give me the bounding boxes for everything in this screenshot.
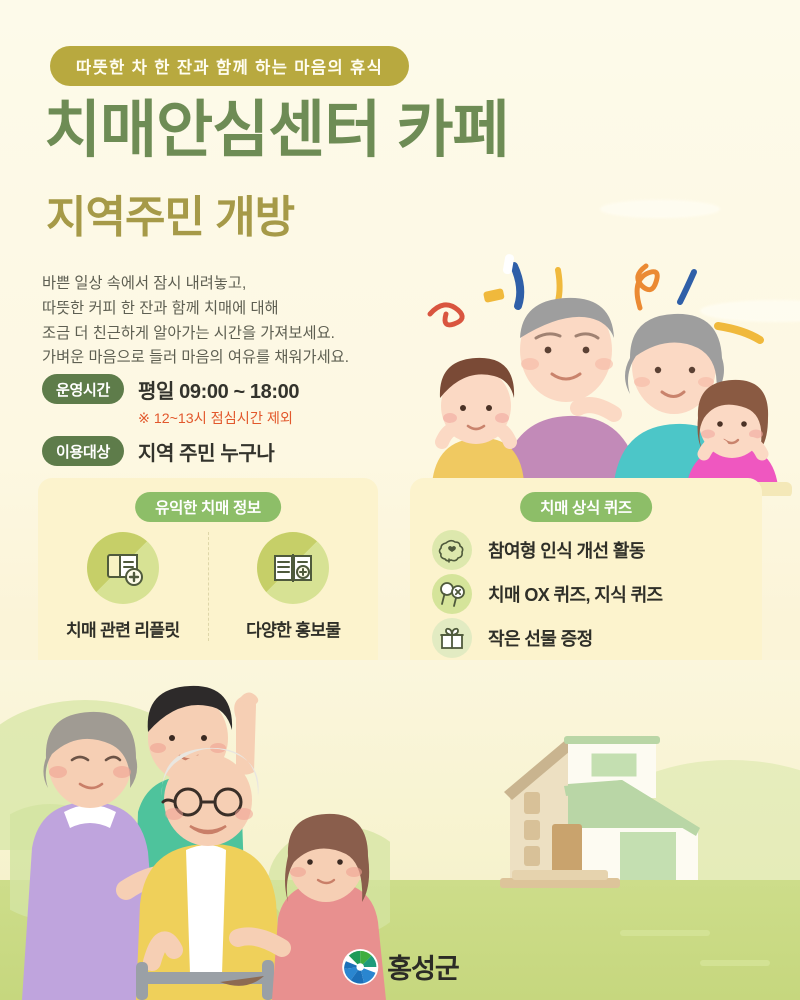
intro-line-2: 따뜻한 커피 한 잔과 함께 치매에 대해 bbox=[42, 297, 349, 322]
intro-line-4: 가벼운 마음으로 들러 마음의 여유를 채워가세요. bbox=[42, 346, 349, 371]
brain-heart-icon bbox=[432, 530, 472, 570]
info-item-leaflet: 치매 관련 리플릿 bbox=[38, 532, 208, 641]
footer-organization-name: 홍성군 bbox=[387, 947, 459, 986]
info-value-audience: 지역 주민 누구나 bbox=[138, 437, 274, 466]
quiz-label-gift: 작은 선물 증정 bbox=[488, 625, 593, 651]
info-row-hours: 운영시간 평일 09:00 ~ 18:00 ※ 12~13시 점심시간 제외 bbox=[42, 374, 402, 428]
ground-tuft bbox=[700, 960, 770, 966]
card-dementia-info: 유익한 치매 정보 치매 관련 리플릿 bbox=[38, 478, 378, 673]
hongseong-emblem-icon bbox=[341, 948, 379, 986]
family-grandparents-children-illustration bbox=[418, 246, 800, 496]
boy-figure bbox=[430, 358, 526, 496]
info-row-audience: 이용대상 지역 주민 누구나 bbox=[42, 436, 402, 466]
intro-line-1: 바쁜 일상 속에서 잠시 내려놓고, bbox=[42, 272, 349, 297]
house-illustration bbox=[460, 720, 760, 900]
open-book-plus-icon bbox=[257, 532, 329, 604]
info-item-promo-materials: 다양한 홍보물 bbox=[208, 532, 379, 641]
info-value-hours: 평일 09:00 ~ 18:00 bbox=[138, 375, 299, 404]
poster-canvas: 따뜻한 차 한 잔과 함께 하는 마음의 휴식 치매안심센터 카페 지역주민 개… bbox=[0, 0, 800, 1000]
header-badge: 따뜻한 차 한 잔과 함께 하는 마음의 휴식 bbox=[50, 46, 409, 86]
info-item-label-promo-materials: 다양한 홍보물 bbox=[246, 616, 340, 641]
quiz-label-awareness: 참여형 인식 개선 활동 bbox=[488, 537, 645, 563]
page-title: 치매안심센터 카페 bbox=[44, 100, 509, 162]
cloud-decoration bbox=[600, 200, 720, 218]
info-label-audience: 이용대상 bbox=[42, 436, 124, 466]
gift-icon bbox=[432, 618, 472, 658]
family-wheelchair-illustration bbox=[10, 672, 390, 1000]
card-title-dementia-quiz: 치매 상식 퀴즈 bbox=[520, 492, 652, 522]
quiz-item-awareness: 참여형 인식 개선 활동 bbox=[432, 528, 748, 572]
intro-line-3: 조금 더 친근하게 알아가는 시간을 가져보세요. bbox=[42, 322, 349, 347]
info-item-label-leaflet: 치매 관련 리플릿 bbox=[66, 616, 180, 641]
info-label-hours: 운영시간 bbox=[42, 374, 124, 404]
leaflet-plus-icon bbox=[87, 532, 159, 604]
info-note-lunch: ※ 12~13시 점심시간 제외 bbox=[138, 408, 299, 428]
card-dementia-quiz: 치매 상식 퀴즈 참여형 인식 개선 활동 bbox=[410, 478, 762, 673]
card-title-dementia-info: 유익한 치매 정보 bbox=[135, 492, 281, 522]
footer-logo: 홍성군 bbox=[341, 947, 459, 986]
quiz-item-ox-quiz: 치매 OX 퀴즈, 지식 퀴즈 bbox=[432, 572, 748, 616]
quiz-item-gift: 작은 선물 증정 bbox=[432, 616, 748, 660]
ox-paddles-icon bbox=[432, 574, 472, 614]
page-subtitle: 지역주민 개방 bbox=[46, 196, 294, 240]
ground-tuft bbox=[620, 930, 710, 936]
quiz-label-ox-quiz: 치매 OX 퀴즈, 지식 퀴즈 bbox=[488, 581, 663, 607]
intro-paragraph: 바쁜 일상 속에서 잠시 내려놓고, 따뜻한 커피 한 잔과 함께 치매에 대해… bbox=[42, 272, 349, 371]
info-list: 운영시간 평일 09:00 ~ 18:00 ※ 12~13시 점심시간 제외 이… bbox=[42, 374, 402, 474]
